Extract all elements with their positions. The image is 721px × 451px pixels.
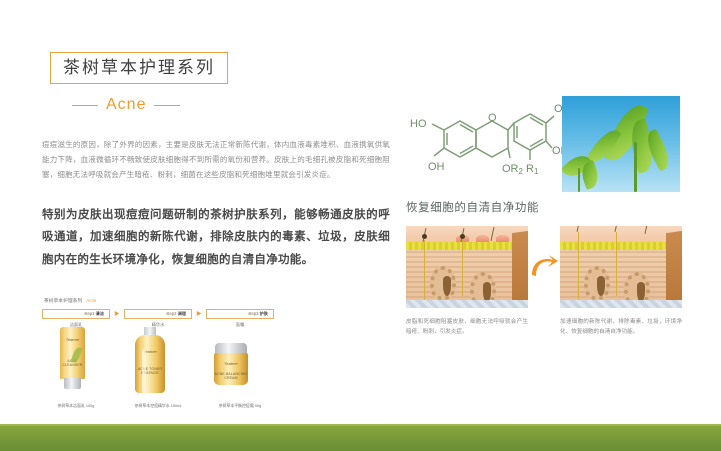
- molecule-label-r1: R1: [526, 163, 539, 176]
- subcutaneous-layer: [406, 300, 528, 308]
- footer-highlight-line: [0, 424, 721, 426]
- hair-shaft-icon: [616, 232, 617, 296]
- step-arrow-1-icon: ▶: [110, 311, 124, 317]
- step-label-1: step1 清洁: [84, 311, 104, 317]
- hair-shaft-icon: [424, 240, 425, 300]
- tube-cap: [64, 378, 81, 389]
- caption-cleansed-skin: 加速细胞的新陈代谢，排除毒素、垃圾，环境净化、恢复细胞的自清自净功能。: [560, 318, 682, 338]
- stem-icon: [634, 142, 637, 192]
- product-routine-panel: 茶树草本护理系列 Acne step1 清洁 ▶ step2 调理 ▶ step…: [42, 298, 292, 408]
- step-name-3: 护肤: [260, 311, 268, 316]
- tea-tree-photo: [562, 96, 680, 192]
- product-cream-jar[interactable]: Teatree ACNE BALANCING CREAM: [214, 343, 248, 385]
- hair-follicle: [584, 266, 610, 300]
- skin-comparison-figures: [406, 226, 682, 308]
- arrow-right-icon: [529, 254, 559, 280]
- subcutaneous-layer: [560, 300, 682, 308]
- molecule-label-ring-o: O: [488, 112, 497, 124]
- product-cleanser-tube[interactable]: Teatree ACNE CLEANSER: [60, 327, 85, 389]
- panel-heading-cn: 茶树草本护理系列: [44, 298, 82, 304]
- subtitle-en: Acne: [106, 97, 146, 113]
- step-box-2[interactable]: step2 调理: [124, 309, 192, 319]
- skin-side-edge: [512, 231, 528, 308]
- molecule-label-oh-top: OH: [554, 103, 562, 115]
- sub-gap-2: [192, 322, 206, 328]
- tube-brandmark: Teatree: [60, 337, 85, 342]
- right-section-heading: 恢复细胞的自清自净功能: [406, 199, 539, 215]
- tube-body: Teatree ACNE CLEANSER: [60, 327, 85, 379]
- panel-heading: 茶树草本护理系列 Acne: [42, 298, 292, 304]
- dash-right-icon: [154, 105, 180, 106]
- product-captions-row: 茶树草本洁面乳 100g 茶树草本控痘精华水 150ml 茶树草本平衡控痘霜 5…: [42, 403, 292, 409]
- follicle-core: [443, 276, 451, 296]
- step-arrow-2-icon: ▶: [192, 311, 206, 317]
- product-images-row: Teatree ACNE CLEANSER Teatree ACNE TONER…: [42, 331, 292, 401]
- page-title: 茶树草本护理系列: [63, 59, 215, 76]
- step-box-3[interactable]: step3 护肤: [206, 309, 274, 319]
- sub-gap-1: [110, 322, 124, 328]
- product-caption-1: 茶树草本洁面乳 100g: [42, 403, 110, 409]
- caption-gap: [528, 318, 560, 338]
- hair-follicle: [430, 266, 456, 300]
- follicle-core: [637, 282, 645, 302]
- figure-clogged-skin: [406, 226, 528, 308]
- stem-icon: [578, 168, 580, 192]
- left-content-column: 茶树草本护理系列 Acne 痘痘滋生的原因，除了外界的因素，主要是皮肤无法正常新…: [42, 52, 390, 271]
- figure-cleansed-skin: [560, 226, 682, 308]
- subtitle-row: Acne: [72, 97, 390, 113]
- step-box-1[interactable]: step1 清洁: [42, 309, 110, 319]
- dash-left-icon: [72, 105, 98, 106]
- step-name-1: 清洁: [96, 311, 104, 316]
- follicle-core: [483, 282, 491, 302]
- catechin-molecule-diagram: HO OH O OH OH OR2 R1: [402, 96, 562, 192]
- skin-side-edge: [666, 231, 682, 308]
- bottle-brandmark: Teatree: [135, 349, 165, 354]
- caption-clogged-skin: 皮脂和死细胞阻塞皮肤，细胞无法呼吸就会产生暗疮、粉刺，引发炎症。: [406, 318, 528, 338]
- molecule-svg: HO OH O OH OH OR2 R1: [402, 96, 562, 192]
- transition-arrow: [528, 254, 560, 280]
- pore-plug-icon: [422, 234, 427, 239]
- hair-shaft-icon: [578, 232, 579, 300]
- acne-bump-icon: [476, 235, 489, 242]
- jar-label: ACNE BALANCING CREAM: [214, 372, 248, 380]
- step-name-2: 调理: [178, 311, 186, 316]
- series-title-box: 茶树草本护理系列: [50, 52, 228, 84]
- molecule-label-oh-bottom: OH: [428, 161, 445, 173]
- molecule-label-oh-right: OH: [552, 145, 562, 157]
- acne-bump-icon: [496, 235, 509, 242]
- product-caption-2: 茶树草本控痘精华水 150ml: [124, 403, 192, 409]
- product-toner-bottle[interactable]: Teatree ACNE TONER ESSENCE: [135, 327, 165, 393]
- jar-body: Teatree ACNE BALANCING CREAM: [214, 353, 248, 385]
- jar-brandmark: Teatree: [214, 361, 248, 366]
- pore-plug-icon: [460, 234, 465, 239]
- hair-shaft-icon: [462, 240, 463, 296]
- caption-gap-2: [192, 403, 206, 409]
- step-number-1: step1: [84, 311, 94, 316]
- step-label-2: step2 调理: [166, 311, 186, 317]
- step-sub-3: 面霜: [206, 322, 274, 328]
- bottle-body: Teatree ACNE TONER ESSENCE: [135, 335, 165, 393]
- bottle-highlight: [142, 349, 146, 393]
- panel-heading-en: Acne: [86, 298, 96, 303]
- intro-paragraph: 痘痘滋生的原因，除了外界的因素，主要是皮肤无法正常新陈代谢，体内血液毒素堆积、血…: [42, 137, 390, 182]
- footer-green-band: [0, 424, 721, 451]
- skin-figure-captions: 皮脂和死细胞阻塞皮肤，细胞无法呼吸就会产生暗疮、粉刺，引发炎症。 加速细胞的新陈…: [406, 318, 686, 338]
- step-number-2: step2: [166, 311, 176, 316]
- follicle-core: [597, 276, 605, 296]
- step-boxes-row: step1 清洁 ▶ step2 调理 ▶ step3 护肤: [42, 309, 292, 319]
- step-number-3: step3: [248, 311, 258, 316]
- caption-gap-1: [110, 403, 124, 409]
- step-label-3: step3 护肤: [248, 311, 268, 317]
- brochure-page: 茶树草本护理系列 Acne 痘痘滋生的原因，除了外界的因素，主要是皮肤无法正常新…: [0, 0, 721, 451]
- molecule-label-ho: HO: [410, 118, 427, 130]
- bottle-label: ACNE TONER ESSENCE: [135, 367, 165, 375]
- product-caption-3: 茶树草本平衡控痘霜 50g: [206, 403, 274, 409]
- molecule-label-or2: OR2: [502, 163, 524, 176]
- highlight-paragraph: 特别为皮肤出现痘痘问题研制的茶树护肤系列，能够畅通皮肤的呼吸通道，加速细胞的新陈…: [42, 204, 390, 271]
